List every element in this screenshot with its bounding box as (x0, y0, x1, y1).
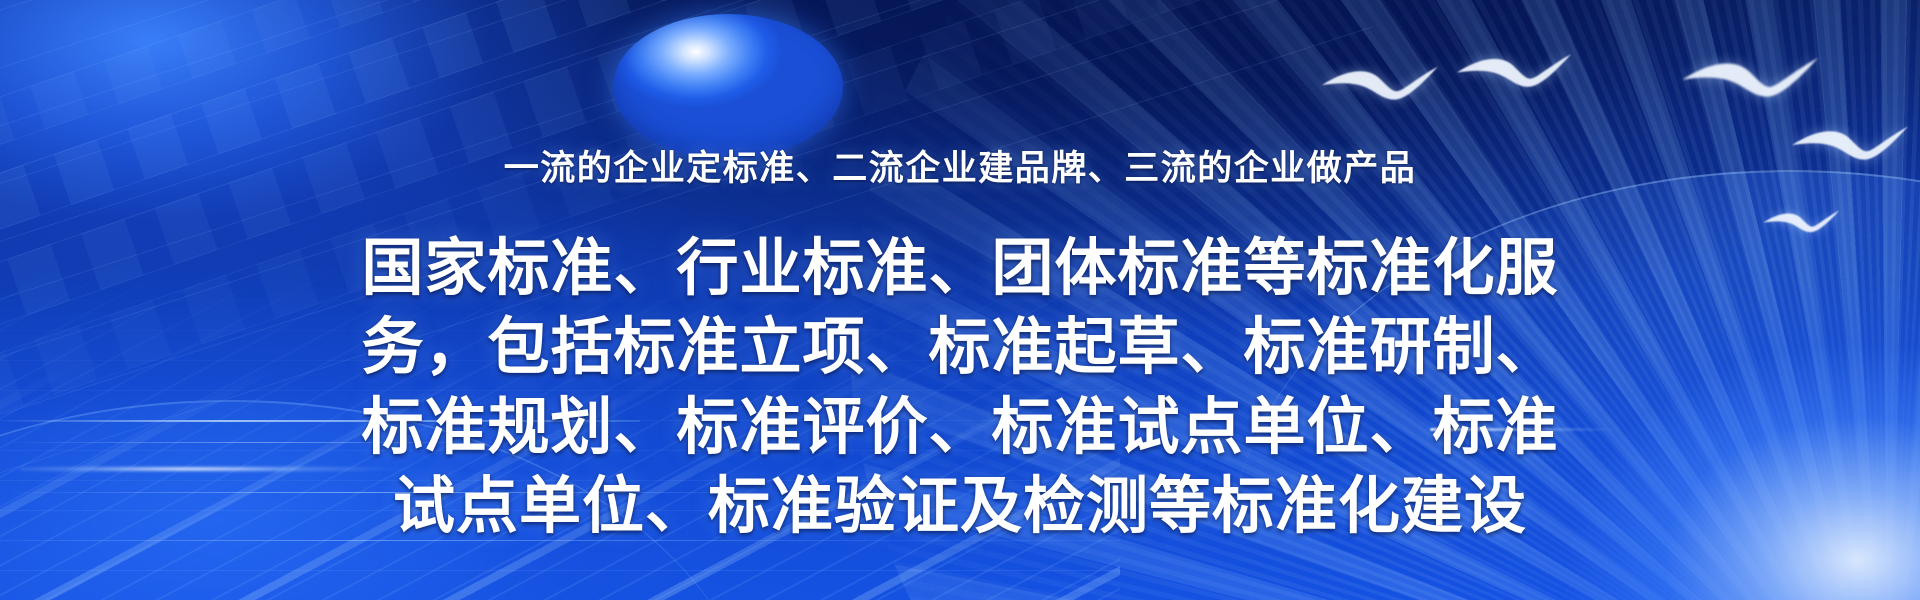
subheading-line: 试点单位、标准验证及检测等标准化建设 (310, 467, 1610, 546)
promotional-banner: 一流的企业定标准、二流企业建品牌、三流的企业做产品 国家标准、行业标准、团体标准… (0, 0, 1920, 600)
subheading-line: 国家标准、行业标准、团体标准等标准化服 (310, 229, 1610, 308)
subheading-line: 务，包括标准立项、标准起草、标准研制、 (310, 308, 1610, 387)
banner-headline: 一流的企业定标准、二流企业建品牌、三流的企业做产品 (504, 140, 1417, 191)
subheading-line: 标准规划、标准评价、标准试点单位、标准 (310, 388, 1610, 467)
banner-subheading: 国家标准、行业标准、团体标准等标准化服 务，包括标准立项、标准起草、标准研制、 … (310, 229, 1610, 546)
banner-content: 一流的企业定标准、二流企业建品牌、三流的企业做产品 国家标准、行业标准、团体标准… (0, 0, 1920, 600)
